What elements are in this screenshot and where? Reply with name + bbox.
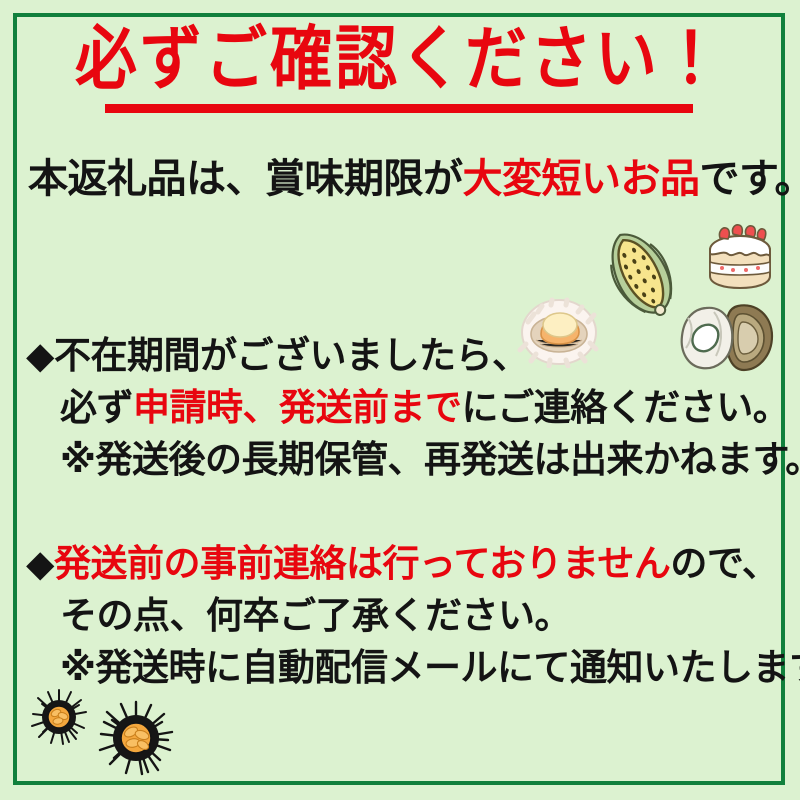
lead-prefix: 本返礼品は、賞味期限が — [28, 156, 463, 202]
title-underline — [105, 104, 693, 113]
section-no-prenotice: ◆発送前の事前連絡は行っておりませんので、 その点、何卒ご了承ください。 ※発送… — [26, 538, 790, 694]
lead-highlight: 大変短いお品 — [463, 156, 700, 202]
sea-urchin-icon-large — [98, 700, 174, 780]
lead-suffix: です。 — [700, 156, 800, 202]
page-title-text: 必ずご確認ください！ — [75, 22, 725, 95]
absence-line-3-text: ※発送後の長期保管、再発送は出来かねます。 — [60, 438, 800, 481]
absence-line-1-text: 不在期間がございましたら、 — [54, 334, 529, 377]
bullet-diamond: ◆ — [26, 334, 54, 377]
strawberry-cake-icon — [700, 222, 780, 298]
section-absence: ◆不在期間がございましたら、 必ず申請時、発送前までにご連絡ください。 ※発送後… — [26, 330, 790, 486]
absence-line-3: ※発送後の長期保管、再発送は出来かねます。 — [26, 434, 790, 486]
noprenotice-line-3: ※発送時に自動配信メールにて通知いたします。 — [26, 642, 790, 694]
noprenotice-line-3-text: ※発送時に自動配信メールにて通知いたします。 — [60, 646, 800, 689]
absence-line-2-a: 必ず — [60, 386, 133, 429]
absence-line-2-highlight: 申請時、発送前まで — [133, 386, 462, 429]
noprenotice-line-2: その点、何卒ご了承ください。 — [26, 590, 790, 642]
noprenotice-line-1-b: ので、 — [670, 542, 778, 585]
lead-statement: 本返礼品は、賞味期限が大変短いお品です。 — [28, 146, 788, 204]
absence-line-1: ◆不在期間がございましたら、 — [26, 330, 790, 382]
noprenotice-line-2-text: その点、何卒ご了承ください。 — [60, 594, 571, 637]
corn-icon — [592, 222, 688, 326]
notice-card: 必ずご確認ください！ 本返礼品は、賞味期限が大変短いお品です。 — [0, 0, 800, 800]
page-title: 必ずご確認ください！ — [0, 22, 800, 87]
sea-urchin-icon-small — [30, 688, 88, 750]
bullet-diamond: ◆ — [26, 542, 54, 585]
noprenotice-line-1-highlight: 発送前の事前連絡は行っておりません — [54, 542, 670, 585]
absence-line-2: 必ず申請時、発送前までにご連絡ください。 — [26, 382, 790, 434]
absence-line-2-c: にご連絡ください。 — [462, 386, 790, 429]
noprenotice-line-1: ◆発送前の事前連絡は行っておりませんので、 — [26, 538, 790, 590]
